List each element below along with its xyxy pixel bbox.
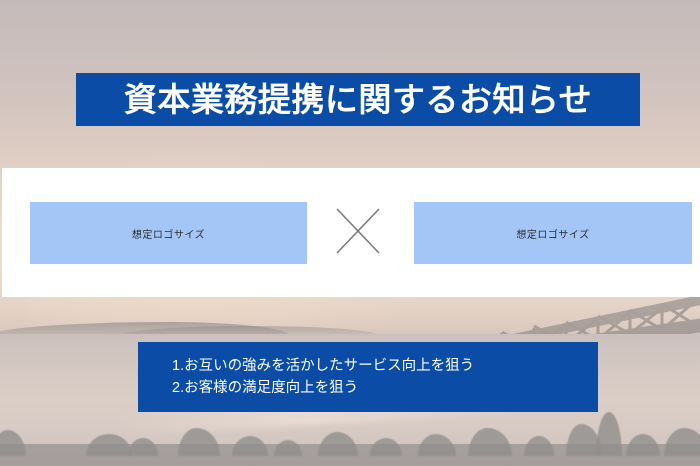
bullet-item: 2.お客様の満足度向上を狙う [172, 377, 598, 399]
logo-placeholder-right[interactable]: 想定ロゴサイズ [414, 202, 692, 264]
logo-placeholder-left-label: 想定ロゴサイズ [132, 226, 205, 241]
page-title: 資本業務提携に関するお知らせ [124, 83, 592, 116]
bullet-box: 1.お互いの強みを活かしたサービス向上を狙う 2.お客様の満足度向上を狙う [138, 342, 598, 412]
slide-canvas: 資本業務提携に関するお知らせ 想定ロゴサイズ 想定ロゴサイズ 1.お互いの強みを… [0, 0, 700, 466]
cross-icon [334, 206, 382, 256]
logo-placeholder-left[interactable]: 想定ロゴサイズ [30, 202, 307, 264]
logo-placeholder-right-label: 想定ロゴサイズ [516, 226, 589, 241]
bullet-item: 1.お互いの強みを活かしたサービス向上を狙う [172, 355, 598, 377]
title-banner: 資本業務提携に関するお知らせ [76, 73, 640, 126]
bullet-list: 1.お互いの強みを活かしたサービス向上を狙う 2.お客様の満足度向上を狙う [138, 342, 598, 399]
